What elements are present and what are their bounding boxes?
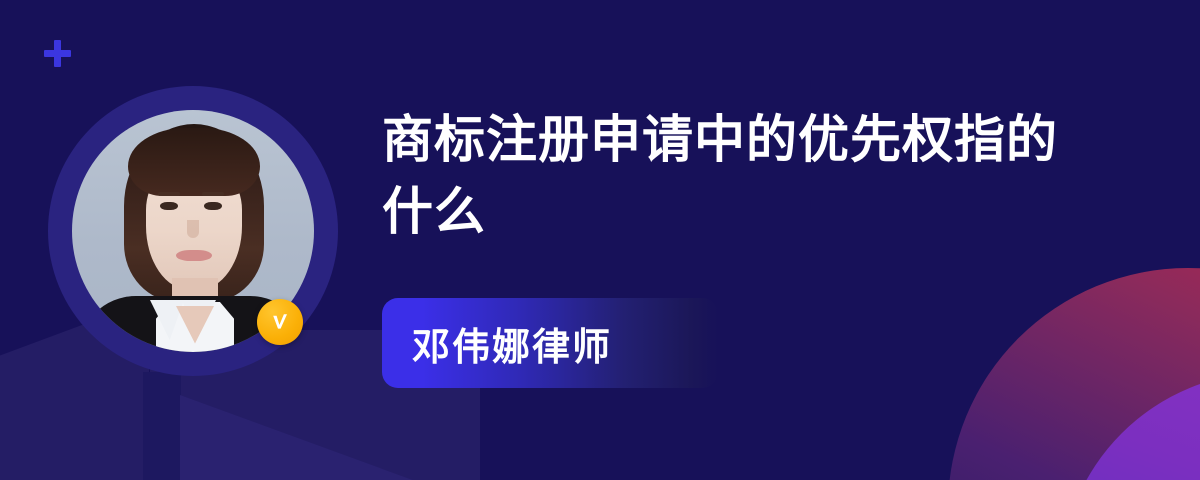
portrait-eye-left (160, 202, 178, 210)
page-title: 商标注册申请中的优先权指的什么 (382, 104, 1082, 248)
portrait-fringe (128, 128, 260, 196)
avatar (48, 86, 338, 376)
plus-icon (44, 40, 71, 67)
article-cover-banner: 商标注册申请中的优先权指的什么 邓伟娜律师 (0, 0, 1200, 480)
author-name-label: 邓伟娜律师 (382, 316, 612, 371)
verified-check-icon (257, 299, 303, 345)
author-name-pill[interactable]: 邓伟娜律师 (382, 298, 718, 388)
portrait-nose (187, 220, 199, 238)
portrait-eye-right (204, 202, 222, 210)
cover-text-block: 商标注册申请中的优先权指的什么 (382, 104, 1172, 248)
portrait-eyebrow-left (158, 192, 180, 196)
portrait-mouth (176, 250, 212, 261)
background-stem-shape (143, 372, 181, 480)
portrait-eyebrow-right (202, 192, 224, 196)
